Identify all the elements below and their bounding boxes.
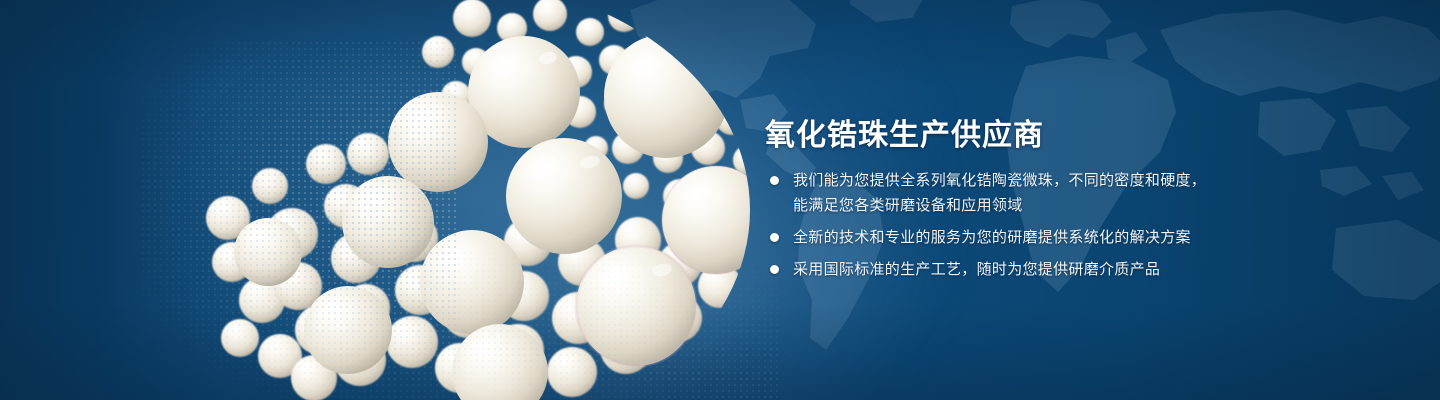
bullet-dot-icon: [770, 233, 779, 242]
bullet-text-line2: 能满足您各类研磨设备和应用领域: [793, 193, 1206, 218]
list-item: 我们能为您提供全系列氧化锆陶瓷微珠，不同的密度和硬度， 能满足您各类研磨设备和应…: [767, 168, 1206, 218]
bullet-text-line1: 全新的技术和专业的服务为您的研磨提供系统化的解决方案: [793, 229, 1191, 246]
halftone-fade-bottom: [450, 250, 780, 400]
list-item: 全新的技术和专业的服务为您的研磨提供系统化的解决方案: [767, 225, 1206, 250]
banner-bullet-list: 我们能为您提供全系列氧化锆陶瓷微珠，不同的密度和硬度， 能满足您各类研磨设备和应…: [767, 168, 1206, 282]
bullet-dot-icon: [770, 265, 779, 274]
halftone-fade-left: [140, 40, 460, 400]
banner-headline: 氧化锆珠生产供应商: [765, 110, 1044, 154]
zirconia-beads-photo: [120, 0, 820, 400]
banner-copy: 氧化锆珠生产供应商 我们能为您提供全系列氧化锆陶瓷微珠，不同的密度和硬度， 能满…: [765, 0, 1385, 400]
list-item: 采用国际标准的生产工艺，随时为您提供研磨介质产品: [767, 257, 1206, 282]
hero-banner: 氧化锆珠生产供应商 我们能为您提供全系列氧化锆陶瓷微珠，不同的密度和硬度， 能满…: [0, 0, 1440, 400]
bullet-dot-icon: [770, 176, 779, 185]
bullet-text-line1: 我们能为您提供全系列氧化锆陶瓷微珠，不同的密度和硬度，: [793, 172, 1206, 189]
bullet-text-line1: 采用国际标准的生产工艺，随时为您提供研磨介质产品: [793, 261, 1160, 278]
